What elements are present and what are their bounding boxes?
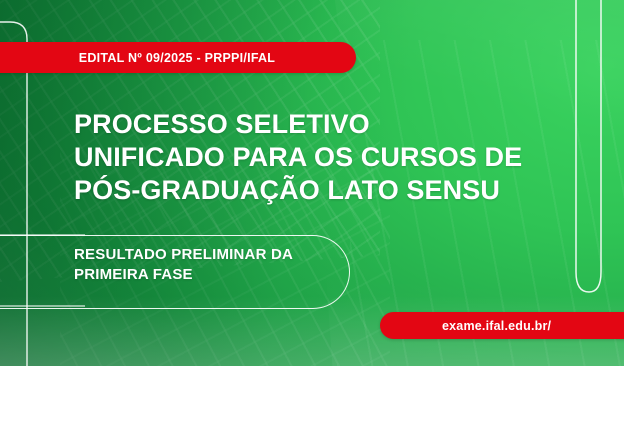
website-url-label: exame.ifal.edu.br/	[380, 319, 551, 333]
page-title-line-3: PÓS-GRADUAÇÃO LATO SENSU	[74, 174, 544, 207]
page-subtitle-line-1: RESULTADO PRELIMINAR DA	[74, 245, 344, 265]
page-subtitle-line-2: PRIMEIRA FASE	[74, 265, 344, 285]
page-title: PROCESSO SELETIVO UNIFICADO PARA OS CURS…	[74, 108, 544, 207]
page-subtitle: RESULTADO PRELIMINAR DA PRIMEIRA FASE	[74, 245, 344, 286]
edital-number-label: EDITAL Nº 09/2025 - PRPPI/IFAL	[61, 51, 275, 65]
website-url-pill[interactable]: exame.ifal.edu.br/	[380, 312, 624, 339]
page-title-line-2: UNIFICADO PARA OS CURSOS DE	[74, 141, 544, 174]
footer-area: INSTITUTO FEDERAL Alagoas	[0, 366, 624, 423]
edital-number-bar: EDITAL Nº 09/2025 - PRPPI/IFAL	[0, 42, 356, 73]
banner-image: EDITAL Nº 09/2025 - PRPPI/IFAL PROCESSO …	[0, 0, 624, 423]
page-title-line-1: PROCESSO SELETIVO	[74, 108, 544, 141]
green-banner-background: EDITAL Nº 09/2025 - PRPPI/IFAL PROCESSO …	[0, 0, 624, 366]
